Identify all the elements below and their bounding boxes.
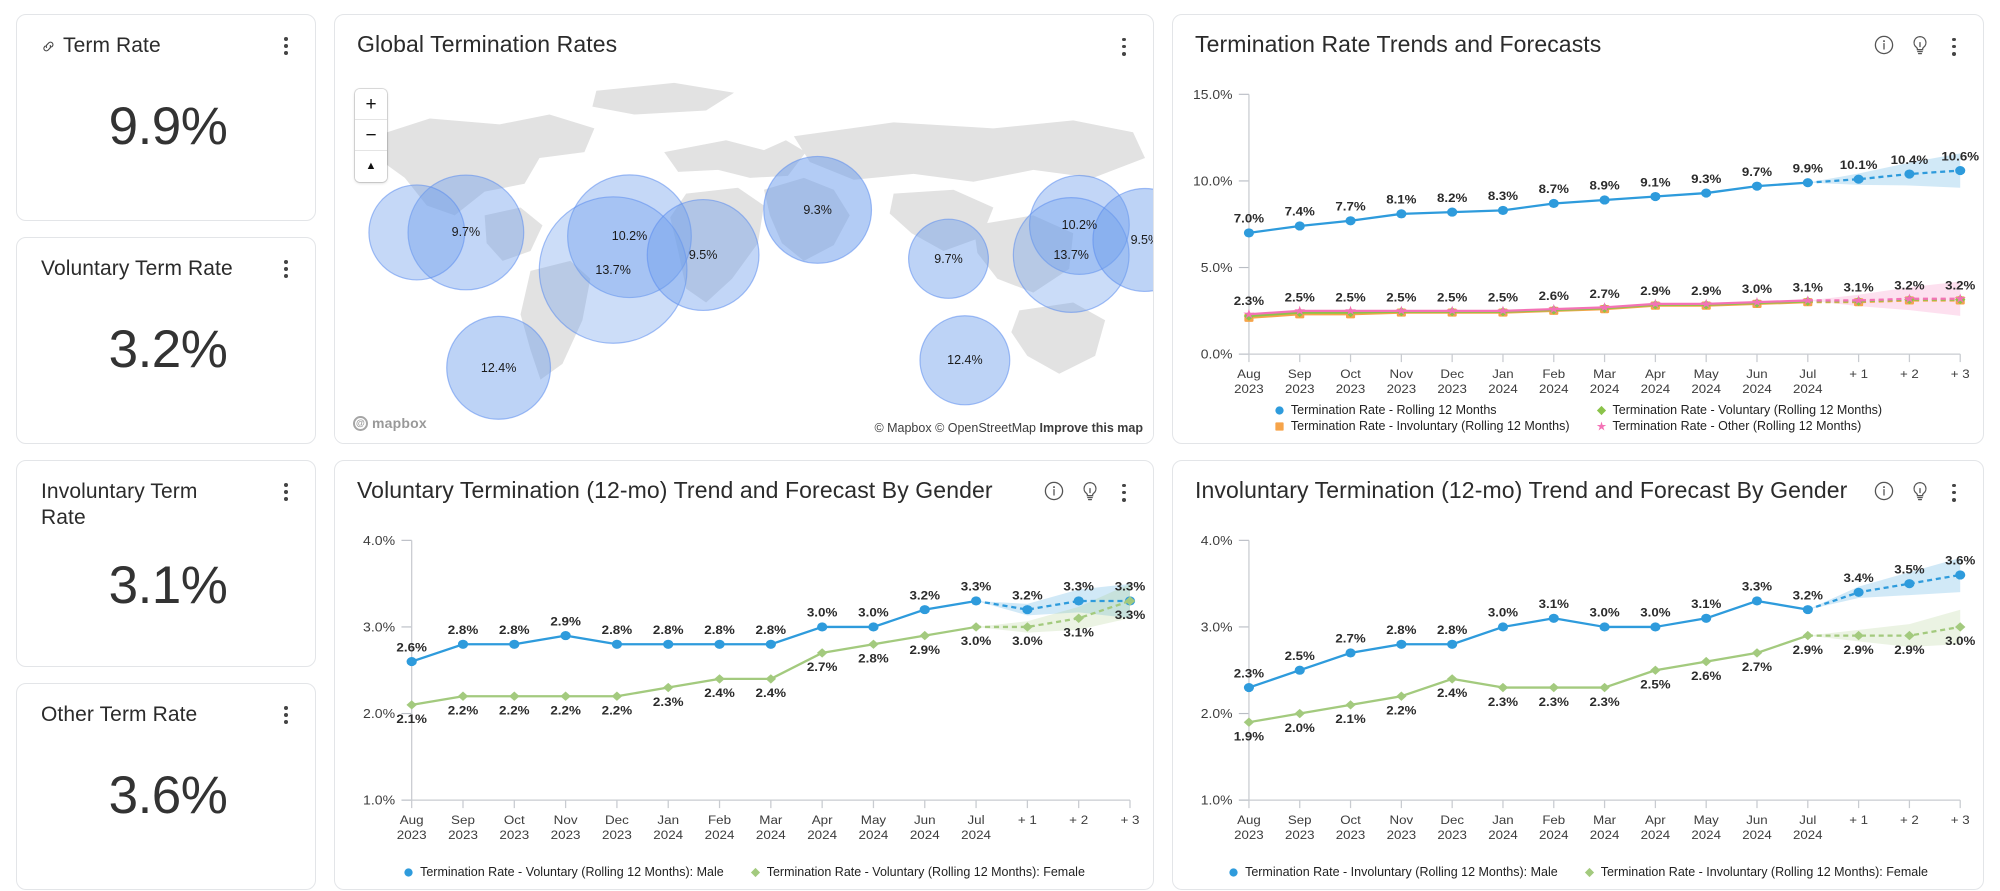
data-label: 3.3% [961, 579, 992, 593]
data-point[interactable] [406, 700, 416, 709]
map-bubble[interactable] [369, 185, 465, 280]
x-axis-label: May [1694, 814, 1720, 827]
data-point[interactable] [817, 648, 827, 657]
chart-header: Termination Rate Trends and Forecasts [1173, 15, 1983, 64]
data-point[interactable] [1904, 169, 1914, 178]
kpi-title: Involuntary Term Rate [41, 479, 231, 532]
legend-item[interactable]: Termination Rate - Voluntary (Rolling 12… [1596, 403, 1883, 417]
chart-card-voluntary-by-gender: Voluntary Termination (12-mo) Trend and … [334, 460, 1154, 890]
x-axis-label: Mar [759, 813, 783, 827]
x-axis-label: 2024 [961, 828, 991, 842]
y-axis-label: 4.0% [1201, 534, 1233, 548]
data-label: 2.6% [1539, 290, 1569, 303]
y-axis-label: 2.0% [363, 707, 395, 721]
legend-label: Termination Rate - Rolling 12 Months [1291, 403, 1497, 417]
legend-item[interactable]: Termination Rate - Voluntary (Rolling 12… [750, 865, 1085, 879]
data-point[interactable] [1650, 666, 1660, 675]
data-point[interactable] [1600, 622, 1610, 631]
kpi-header: Involuntary Term Rate [41, 479, 295, 532]
data-point[interactable] [458, 640, 468, 649]
data-point[interactable] [1752, 182, 1762, 191]
kpi-title: Term Rate [63, 33, 161, 59]
data-label: 2.3% [1234, 667, 1264, 680]
legend-items: Termination Rate - Rolling 12 MonthsTerm… [1274, 403, 1882, 433]
data-point[interactable] [1854, 175, 1864, 184]
legend-item[interactable]: Termination Rate - Other (Rolling 12 Mon… [1596, 419, 1883, 433]
x-axis-label: Apr [812, 813, 834, 827]
data-point[interactable] [1295, 221, 1305, 230]
y-axis-label: 5.0% [1201, 261, 1233, 275]
x-axis-label: + 2 [1900, 814, 1919, 827]
data-label: 2.6% [1691, 669, 1721, 682]
x-axis-label: 2023 [1387, 828, 1417, 841]
x-axis-label: + 3 [1120, 813, 1139, 827]
data-label: 3.0% [858, 605, 889, 619]
data-label: 2.8% [448, 623, 479, 637]
forecast-confidence-band [1808, 282, 1960, 316]
data-label: 3.3% [1742, 580, 1772, 593]
data-point[interactable] [1244, 718, 1254, 727]
kpi-header: Term Rate [41, 33, 295, 59]
data-label: 10.1% [1840, 159, 1878, 172]
chart-legend: Termination Rate - Involuntary (Rolling … [1173, 865, 1983, 879]
x-axis-label: + 2 [1900, 368, 1919, 381]
legend-item[interactable]: Termination Rate - Voluntary (Rolling 12… [403, 865, 724, 879]
y-axis-label: 4.0% [363, 534, 395, 548]
legend-item[interactable]: Termination Rate - Involuntary (Rolling … [1274, 419, 1570, 433]
map-zoom-in-button[interactable]: + [355, 89, 387, 120]
x-axis-label: 2024 [807, 828, 837, 842]
data-label: 9.1% [1640, 176, 1670, 189]
info-icon[interactable] [1873, 34, 1895, 56]
lightbulb-icon[interactable] [1909, 34, 1931, 56]
kebab-menu-icon[interactable] [1945, 34, 1963, 56]
data-label: 8.2% [1437, 191, 1467, 204]
legend-marker-diamond [1584, 867, 1595, 878]
attribution-mapbox[interactable]: © Mapbox [874, 421, 931, 435]
data-point[interactable] [663, 683, 673, 692]
line-chart-voluntary-by-gender[interactable]: 1.0%2.0%3.0%4.0%Aug2023Sep2023Oct2023Nov… [335, 513, 1153, 889]
data-label: 2.5% [1386, 291, 1416, 304]
data-label: 2.9% [909, 643, 940, 657]
info-icon[interactable] [1043, 480, 1065, 502]
data-label: 2.1% [396, 712, 427, 726]
x-axis-label: Mar [1593, 814, 1616, 827]
x-axis-label: May [1694, 368, 1720, 381]
data-label: 2.7% [1742, 661, 1772, 674]
map-header-icons [1115, 34, 1133, 56]
data-label: 2.9% [1894, 643, 1924, 656]
kpi-header: Other Term Rate [41, 702, 295, 728]
data-label: 8.7% [1539, 183, 1569, 196]
kpi-value: 3.1% [41, 532, 295, 653]
legend-marker-circle [1274, 405, 1285, 416]
map-title: Global Termination Rates [357, 31, 617, 58]
map-compass-button[interactable]: ▲ [355, 151, 387, 182]
x-axis-label: Jan [1492, 368, 1513, 381]
data-point[interactable] [1244, 228, 1254, 237]
data-point[interactable] [1022, 605, 1032, 614]
data-point[interactable] [1549, 614, 1559, 623]
data-label: 2.5% [1437, 291, 1467, 304]
data-point[interactable] [766, 640, 776, 649]
data-label: 3.1% [1539, 598, 1569, 611]
legend-label: Termination Rate - Voluntary (Rolling 12… [767, 865, 1085, 879]
data-label: 2.9% [1793, 643, 1823, 656]
x-axis-label: Feb [708, 813, 731, 827]
data-label: 2.0% [1285, 721, 1315, 734]
data-point[interactable] [1650, 192, 1660, 201]
data-point[interactable] [1295, 709, 1305, 718]
data-label: 9.3% [1691, 172, 1721, 185]
data-point[interactable] [1904, 579, 1914, 588]
map-zoom-out-button[interactable]: − [355, 120, 387, 151]
mapbox-logo-text: mapbox [372, 415, 427, 431]
x-axis-label: 2024 [705, 828, 735, 842]
x-axis-label: + 2 [1069, 813, 1088, 827]
data-point[interactable] [509, 640, 519, 649]
x-axis-label: 2024 [1488, 382, 1518, 395]
x-axis-label: Oct [1340, 368, 1361, 381]
data-label: 2.9% [1843, 643, 1873, 656]
x-axis-label: Aug [1237, 368, 1261, 381]
data-point[interactable] [1345, 648, 1355, 657]
data-point[interactable] [612, 692, 622, 701]
x-axis-label: + 1 [1849, 368, 1868, 381]
data-point[interactable] [1498, 206, 1508, 215]
x-axis-label: 2024 [756, 828, 786, 842]
data-point[interactable] [407, 657, 417, 666]
x-axis-label: Nov [554, 813, 579, 827]
data-label: 2.3% [1488, 695, 1518, 708]
data-label: 2.2% [448, 703, 479, 717]
series-line [1249, 183, 1808, 233]
x-axis-label: Jun [1746, 368, 1767, 381]
series-line [412, 601, 976, 662]
data-label: 2.2% [550, 703, 581, 717]
data-label: 2.8% [1437, 624, 1467, 637]
data-point[interactable] [1701, 614, 1711, 623]
data-point[interactable] [1803, 631, 1813, 640]
map-bubble-label: 9.7% [934, 252, 963, 266]
x-axis-label: 2024 [1590, 828, 1620, 841]
data-point[interactable] [1447, 640, 1457, 649]
x-axis-label: Jun [914, 813, 936, 827]
data-point[interactable] [920, 631, 930, 640]
x-axis-label: 2024 [1793, 382, 1823, 395]
data-point[interactable] [1498, 683, 1508, 692]
data-label: 8.9% [1589, 179, 1619, 192]
data-label: 3.2% [909, 588, 940, 602]
chart-legend: Termination Rate - Voluntary (Rolling 12… [335, 865, 1153, 879]
chart-header-icons [1873, 480, 1963, 502]
data-point[interactable] [1600, 195, 1610, 204]
x-axis-label: Dec [1440, 814, 1464, 827]
data-label: 9.9% [1793, 162, 1823, 175]
x-axis-label: + 1 [1849, 814, 1868, 827]
data-point[interactable] [509, 692, 519, 701]
kebab-menu-icon[interactable] [277, 256, 295, 278]
data-point[interactable] [1447, 208, 1457, 217]
x-axis-label: Oct [1340, 814, 1361, 827]
x-axis-label: 2023 [448, 828, 478, 842]
x-axis-label: Jun [1746, 814, 1767, 827]
map-viewport[interactable]: 9.7%12.4%10.2%13.7%9.5%9.3%9.7%12.4%10.2… [335, 67, 1153, 443]
legend-items: Termination Rate - Involuntary (Rolling … [1228, 865, 1928, 879]
data-point[interactable] [612, 640, 622, 649]
data-label: 3.4% [1843, 572, 1873, 585]
kpi-card-term-rate[interactable]: Term Rate 9.9% [16, 14, 316, 221]
legend-label: Termination Rate - Voluntary (Rolling 12… [420, 865, 724, 879]
data-label: 2.3% [653, 694, 684, 708]
data-label: 2.5% [1285, 650, 1315, 663]
data-point[interactable] [766, 674, 776, 683]
data-point[interactable] [868, 640, 878, 649]
data-point[interactable] [714, 674, 724, 683]
x-axis-label: 2024 [859, 828, 889, 842]
x-axis-label: Oct [504, 813, 525, 827]
y-axis-label: 1.0% [1201, 793, 1233, 807]
data-point[interactable] [1396, 640, 1406, 649]
data-label: 3.5% [1894, 563, 1924, 576]
data-point[interactable] [1650, 622, 1660, 631]
map-bubble-label: 10.2% [1062, 218, 1097, 232]
kpi-card-other-term-rate[interactable]: Other Term Rate 3.6% [16, 683, 316, 890]
x-axis-label: 2023 [1336, 828, 1366, 841]
kpi-card-voluntary-term-rate[interactable]: Voluntary Term Rate 3.2% [16, 237, 316, 444]
data-point[interactable] [663, 640, 673, 649]
legend-item[interactable]: Termination Rate - Involuntary (Rolling … [1228, 865, 1558, 879]
mapbox-logo-mark: @ [353, 416, 368, 431]
line-chart-involuntary-by-gender[interactable]: 1.0%2.0%3.0%4.0%Aug2023Sep2023Oct2023Nov… [1173, 513, 1983, 889]
x-axis-label: + 3 [1951, 814, 1970, 827]
data-label: 3.6% [1945, 554, 1975, 567]
data-label: 3.3% [1115, 608, 1146, 622]
map-attribution: © Mapbox © OpenStreetMap Improve this ma… [874, 421, 1143, 435]
data-point[interactable] [1955, 166, 1965, 175]
forecast-confidence-band [1808, 610, 1960, 647]
data-label: 2.8% [1386, 624, 1416, 637]
data-label: 2.8% [704, 623, 735, 637]
data-label: 2.1% [1335, 713, 1365, 726]
map-bubble-label: 9.5% [1131, 233, 1153, 247]
map-zoom-controls[interactable]: + − ▲ [355, 89, 387, 182]
data-point[interactable] [560, 692, 570, 701]
data-label: 2.5% [1335, 291, 1365, 304]
data-point[interactable] [1345, 700, 1355, 709]
data-label: 3.0% [1488, 606, 1518, 619]
x-axis-label: 2023 [1336, 382, 1366, 395]
data-point[interactable] [1854, 588, 1864, 597]
x-axis-label: Aug [400, 813, 424, 827]
data-point[interactable] [971, 596, 981, 605]
x-axis-label: Sep [1288, 368, 1312, 381]
data-label: 2.5% [1640, 678, 1670, 691]
data-point[interactable] [714, 640, 724, 649]
x-axis-label: 2023 [1234, 828, 1264, 841]
data-label: 2.5% [1285, 291, 1315, 304]
data-point[interactable] [1599, 683, 1609, 692]
data-point[interactable] [1396, 692, 1406, 701]
data-label: 2.2% [602, 703, 633, 717]
x-axis-label: 2024 [910, 828, 940, 842]
data-label: 3.0% [1589, 606, 1619, 619]
data-label: 3.3% [1063, 579, 1094, 593]
data-point[interactable] [1701, 189, 1711, 198]
line-chart-termination-trends[interactable]: 0.0%5.0%10.0%15.0%Aug2023Sep2023Oct2023N… [1173, 67, 1983, 443]
data-label: 3.3% [1115, 579, 1146, 593]
data-label: 8.1% [1386, 193, 1416, 206]
data-label: 2.6% [396, 640, 427, 654]
data-label: 2.8% [499, 623, 530, 637]
data-label: 3.0% [1012, 634, 1043, 648]
x-axis-label: 2023 [397, 828, 427, 842]
kebab-menu-icon[interactable] [1115, 480, 1133, 502]
x-axis-label: 2023 [1285, 828, 1315, 841]
data-point[interactable] [1803, 178, 1813, 187]
data-point[interactable] [1074, 596, 1084, 605]
map-bubble-label: 13.7% [1053, 248, 1088, 262]
kpi-title-row: Other Term Rate [41, 702, 197, 728]
kebab-menu-icon[interactable] [1115, 34, 1133, 56]
map-bubble-label: 12.4% [947, 353, 982, 367]
data-point[interactable] [1447, 674, 1457, 683]
data-label: 2.3% [1539, 695, 1569, 708]
data-label: 3.0% [807, 605, 838, 619]
info-icon[interactable] [1873, 480, 1895, 502]
chart-header: Involuntary Termination (12-mo) Trend an… [1173, 461, 1983, 510]
data-label: 3.2% [1793, 589, 1823, 602]
kebab-menu-icon[interactable] [1945, 480, 1963, 502]
x-axis-label: Mar [1593, 368, 1616, 381]
kpi-value: 3.2% [41, 282, 295, 429]
x-axis-label: Nov [1390, 814, 1414, 827]
data-label: 3.0% [1945, 635, 1975, 648]
data-label: 8.3% [1488, 190, 1518, 203]
data-label: 2.3% [1234, 295, 1264, 308]
x-axis-label: Sep [1288, 814, 1312, 827]
map-bubble-label: 9.3% [803, 203, 832, 217]
data-label: 2.9% [1640, 284, 1670, 297]
data-point[interactable] [1803, 605, 1813, 614]
data-point[interactable] [560, 631, 570, 640]
data-point[interactable] [1701, 657, 1711, 666]
x-axis-label: 2023 [1387, 382, 1417, 395]
chart-header-icons [1043, 480, 1133, 502]
lightbulb-icon[interactable] [1909, 480, 1931, 502]
x-axis-label: 2023 [1437, 382, 1467, 395]
data-point[interactable] [1345, 216, 1355, 225]
chart-title: Involuntary Termination (12-mo) Trend an… [1195, 477, 1847, 504]
x-axis-label: 2024 [1590, 382, 1620, 395]
data-point[interactable] [1752, 648, 1762, 657]
x-axis-label: 2023 [1234, 382, 1264, 395]
series-line [1249, 636, 1808, 723]
forecast-confidence-band [1808, 153, 1960, 187]
x-axis-label: Nov [1390, 368, 1414, 381]
data-point[interactable] [817, 622, 827, 631]
kpi-title-row: Involuntary Term Rate [41, 479, 231, 532]
x-axis-label: 2024 [653, 828, 683, 842]
data-point[interactable] [1244, 683, 1254, 692]
attribution-improve-link[interactable]: Improve this map [1040, 421, 1144, 435]
data-point[interactable] [458, 692, 468, 701]
x-axis-label: 2024 [1691, 382, 1721, 395]
x-axis-label: Apr [1645, 814, 1666, 827]
legend-item[interactable]: Termination Rate - Rolling 12 Months [1274, 403, 1570, 417]
data-point[interactable] [1752, 596, 1762, 605]
legend-label: Termination Rate - Involuntary (Rolling … [1601, 865, 1928, 879]
legend-label: Termination Rate - Voluntary (Rolling 12… [1613, 403, 1883, 417]
x-axis-label: Jul [1799, 368, 1816, 381]
x-axis-label: Feb [1542, 814, 1565, 827]
x-axis-label: Apr [1645, 368, 1666, 381]
data-label: 2.9% [550, 614, 581, 628]
data-point[interactable] [971, 622, 981, 631]
x-axis-label: 2024 [1641, 382, 1671, 395]
kebab-menu-icon[interactable] [277, 702, 295, 724]
chart-card-involuntary-by-gender: Involuntary Termination (12-mo) Trend an… [1172, 460, 1984, 890]
kebab-menu-icon[interactable] [277, 479, 295, 501]
mapbox-logo[interactable]: @ mapbox [353, 415, 427, 431]
legend-label: Termination Rate - Involuntary (Rolling … [1245, 865, 1558, 879]
attribution-osm[interactable]: © OpenStreetMap [935, 421, 1036, 435]
data-label: 3.0% [1640, 606, 1670, 619]
data-label: 2.5% [1488, 291, 1518, 304]
data-label: 7.0% [1234, 212, 1264, 225]
data-point[interactable] [920, 605, 930, 614]
x-axis-label: 2023 [1437, 828, 1467, 841]
data-point[interactable] [1295, 666, 1305, 675]
data-label: 2.8% [653, 623, 684, 637]
data-point[interactable] [1498, 622, 1508, 631]
chart-plot-area: 0.0%5.0%10.0%15.0%Aug2023Sep2023Oct2023N… [1173, 67, 1983, 443]
data-point[interactable] [1549, 199, 1559, 208]
data-label: 3.1% [1843, 281, 1873, 294]
data-label: 2.7% [807, 660, 838, 674]
x-axis-label: Jan [1492, 814, 1513, 827]
legend-marker-diamond [1596, 405, 1607, 416]
data-point[interactable] [1955, 570, 1965, 579]
data-label: 3.1% [1691, 598, 1721, 611]
y-axis-label: 3.0% [1201, 620, 1233, 634]
map-bubble-label: 12.4% [481, 361, 516, 375]
x-axis-label: Jul [1799, 814, 1816, 827]
map-bubble-label: 13.7% [595, 263, 630, 277]
x-axis-label: 2024 [1488, 828, 1518, 841]
data-point[interactable] [1549, 683, 1559, 692]
data-label: 2.4% [756, 686, 787, 700]
data-label: 2.8% [858, 651, 889, 665]
lightbulb-icon[interactable] [1079, 480, 1101, 502]
data-point[interactable] [868, 622, 878, 631]
data-label: 9.7% [1742, 165, 1772, 178]
kebab-menu-icon[interactable] [277, 33, 295, 55]
chart-header: Voluntary Termination (12-mo) Trend and … [335, 461, 1153, 510]
kpi-card-involuntary-term-rate[interactable]: Involuntary Term Rate 3.1% [16, 460, 316, 667]
legend-item[interactable]: Termination Rate - Involuntary (Rolling … [1584, 865, 1928, 879]
data-point[interactable] [1396, 209, 1406, 218]
legend-label: Termination Rate - Other (Rolling 12 Mon… [1613, 419, 1862, 433]
dashboard-root: Term Rate 9.9% Voluntary Term Rate 3.2% … [0, 0, 2000, 891]
data-label: 7.7% [1335, 200, 1365, 213]
x-axis-label: Feb [1542, 368, 1565, 381]
x-axis-label: Jul [967, 813, 984, 827]
data-label: 2.8% [756, 623, 787, 637]
legend-marker-circle [1228, 867, 1239, 878]
kpi-value: 3.6% [41, 728, 295, 875]
y-axis-label: 1.0% [363, 793, 395, 807]
